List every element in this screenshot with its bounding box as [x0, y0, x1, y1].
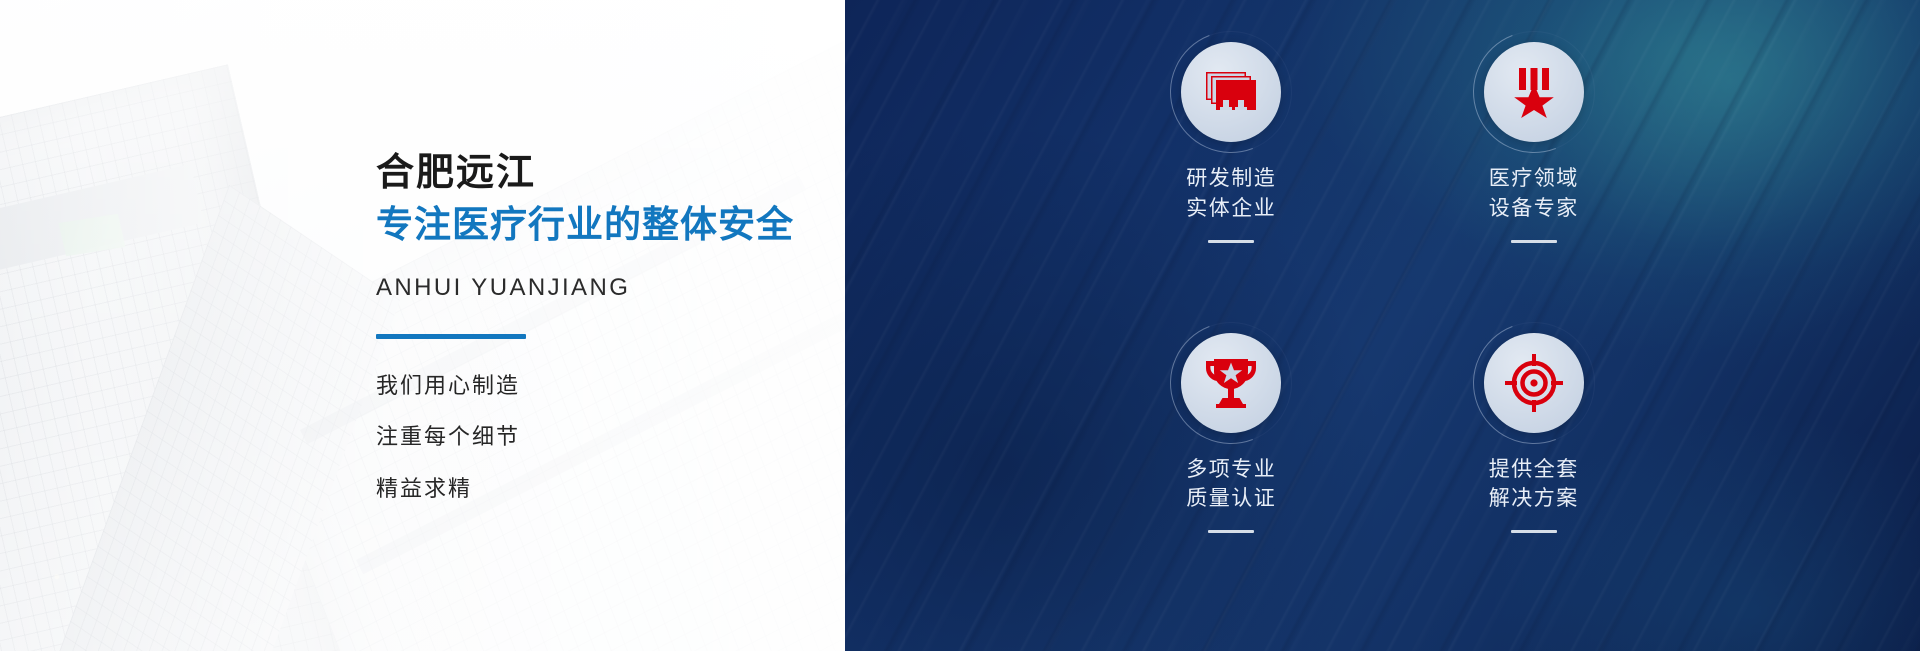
company-name-title: 合肥远江 — [376, 150, 794, 196]
slogan-line-3: 精益求精 — [376, 476, 794, 501]
feature-label-line-2: 解决方案 — [1489, 484, 1579, 514]
company-tagline-blue: 专注医疗行业的整体安全 — [376, 202, 794, 248]
feature-label-line-2: 质量认证 — [1186, 484, 1276, 514]
blue-divider-bar — [376, 334, 526, 339]
feature-label-line-1: 提供全套 — [1489, 455, 1579, 485]
feature-icon-wrap — [1181, 42, 1281, 142]
feature-label-line-1: 研发制造 — [1186, 164, 1276, 194]
feature-label-line-1: 多项专业 — [1186, 455, 1276, 485]
feature-label-line-1: 医疗领域 — [1489, 164, 1579, 194]
feature-underline — [1511, 240, 1557, 243]
feature-icon-wrap — [1484, 333, 1584, 433]
feature-underline — [1208, 240, 1254, 243]
hero-text-block: 合肥远江 专注医疗行业的整体安全 ANHUI YUANJIANG 我们用心制造 … — [376, 0, 794, 651]
feature-underline — [1208, 530, 1254, 533]
decorative-arc-ring — [1151, 11, 1312, 172]
feature-icon-wrap — [1484, 42, 1584, 142]
feature-icon-wrap — [1181, 333, 1281, 433]
feature-label-line-2: 实体企业 — [1186, 194, 1276, 224]
slogan-line-1: 我们用心制造 — [376, 373, 794, 398]
feature-label-line-2: 设备专家 — [1489, 194, 1579, 224]
feature-label: 提供全套 解决方案 — [1489, 455, 1579, 515]
right-features-panel: 研发制造 实体企业 — [845, 0, 1920, 651]
feature-card-certifications[interactable]: 多项专业 质量认证 — [1095, 333, 1368, 618]
feature-label: 多项专业 质量认证 — [1186, 455, 1276, 515]
slogan-line-2: 注重每个细节 — [376, 424, 794, 449]
company-name-english: ANHUI YUANJIANG — [376, 274, 794, 302]
feature-card-solutions[interactable]: 提供全套 解决方案 — [1398, 333, 1671, 618]
feature-underline — [1511, 530, 1557, 533]
feature-card-medical-expertise[interactable]: 医疗领域 设备专家 — [1398, 42, 1671, 327]
feature-label: 医疗领域 设备专家 — [1489, 164, 1579, 224]
feature-grid: 研发制造 实体企业 — [845, 0, 1920, 651]
decorative-arc-ring — [1453, 11, 1614, 172]
feature-card-manufacturing[interactable]: 研发制造 实体企业 — [1095, 42, 1368, 327]
company-banner: 合肥远江 专注医疗行业的整体安全 ANHUI YUANJIANG 我们用心制造 … — [0, 0, 1920, 651]
left-hero-panel: 合肥远江 专注医疗行业的整体安全 ANHUI YUANJIANG 我们用心制造 … — [0, 0, 845, 651]
feature-label: 研发制造 实体企业 — [1186, 164, 1276, 224]
